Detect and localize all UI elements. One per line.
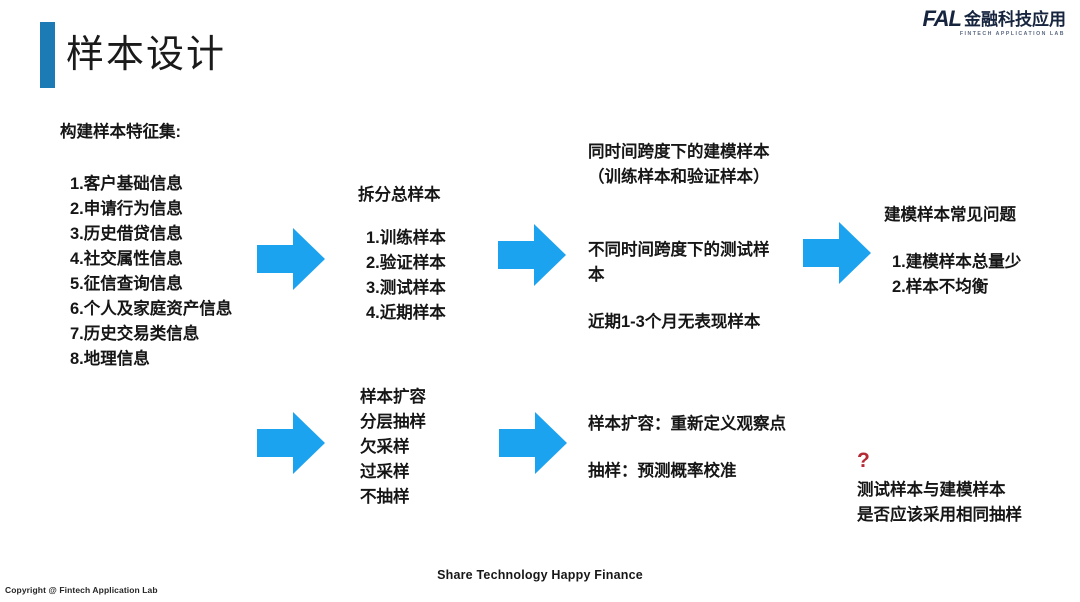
logo-tagline: FINTECH APPLICATION LAB [960, 31, 1065, 37]
footer-slogan: Share Technology Happy Finance [0, 568, 1080, 582]
column1-list: 1.客户基础信息 2.申请行为信息 3.历史借贷信息 4.社交属性信息 5.征信… [70, 172, 232, 372]
sampling-note-1: 样本扩容：重新定义观察点 [588, 412, 786, 437]
logo-row: FAL 金融科技应用 [922, 8, 1066, 30]
logo-mark: FAL [922, 8, 961, 30]
column2-list: 1.训练样本 2.验证样本 3.测试样本 4.近期样本 [366, 226, 446, 326]
sampling-note-2: 抽样：预测概率校准 [588, 459, 737, 484]
column3-paragraph-1: 同时间跨度下的建模样本（训练样本和验证样本） [588, 140, 773, 190]
column2-heading: 拆分总样本 [358, 183, 441, 208]
flow-arrow-3 [803, 222, 871, 284]
sampling-methods-list: 样本扩容 分层抽样 欠采样 过采样 不抽样 [360, 385, 426, 510]
open-question-text: 测试样本与建模样本 是否应该采用相同抽样 [857, 478, 1022, 528]
page-title: 样本设计 [66, 24, 226, 86]
column4-heading: 建模样本常见问题 [884, 203, 1016, 228]
title-accent-bar [40, 22, 55, 88]
flow-arrow-1 [257, 228, 325, 290]
brand-logo: FAL 金融科技应用 FINTECH APPLICATION LAB [922, 8, 1066, 37]
flow-arrow-2 [498, 224, 566, 286]
flow-arrow-4 [257, 412, 325, 474]
footer-copyright: Copyright @ Fintech Application Lab [5, 585, 158, 595]
column3-paragraph-2: 不同时间跨度下的测试样本 [588, 238, 773, 288]
column3-paragraph-3: 近期1-3个月无表现样本 [588, 310, 773, 335]
column4-list: 1.建模样本总量少 2.样本不均衡 [892, 250, 1021, 300]
slide-canvas: 样本设计 FAL 金融科技应用 FINTECH APPLICATION LAB … [0, 0, 1080, 602]
column1-heading: 构建样本特征集: [60, 120, 181, 145]
flow-arrow-5 [499, 412, 567, 474]
question-mark-icon: ? [857, 450, 870, 471]
logo-name-cn: 金融科技应用 [964, 9, 1066, 30]
